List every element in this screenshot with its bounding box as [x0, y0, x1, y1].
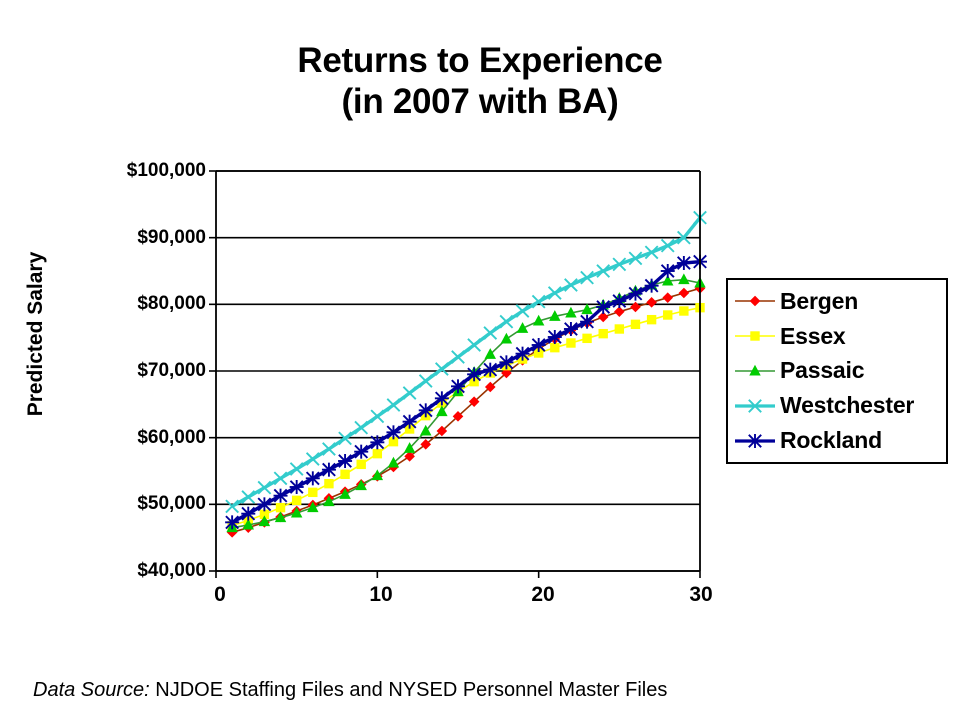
data-point-marker: [386, 425, 400, 439]
data-point-marker: [435, 391, 449, 405]
data-point-marker: [403, 415, 417, 429]
legend-swatch-icon: [734, 290, 776, 312]
data-point-marker: [241, 507, 255, 521]
data-point-marker: [468, 339, 480, 351]
data-point-marker: [403, 387, 415, 399]
data-point-marker: [419, 403, 433, 417]
data-point-marker: [680, 307, 688, 315]
data-point-marker: [436, 363, 448, 375]
data-source-label: Data Source:: [33, 679, 150, 701]
data-point-marker: [565, 279, 577, 291]
data-point-marker: [661, 264, 675, 278]
legend: BergenEssexPassaicWestchesterRockland: [726, 278, 948, 464]
data-point-marker: [338, 454, 352, 468]
data-point-marker: [664, 311, 672, 319]
data-point-marker: [518, 323, 528, 332]
legend-item-rockland[interactable]: Rockland: [734, 425, 946, 457]
data-point-marker: [647, 315, 655, 323]
data-point-marker: [322, 463, 336, 477]
data-point-marker: [290, 480, 304, 494]
data-point-marker: [679, 288, 688, 297]
data-point-marker: [647, 298, 656, 307]
legend-label: Passaic: [780, 357, 864, 384]
gridlines: [216, 171, 700, 571]
data-point-marker: [748, 434, 762, 448]
data-point-marker: [341, 470, 349, 478]
data-point-marker: [628, 287, 642, 301]
data-point-marker: [484, 327, 496, 339]
series-essex: [228, 303, 704, 529]
data-point-marker: [371, 410, 383, 422]
data-point-marker: [307, 453, 319, 465]
legend-swatch-icon: [734, 395, 776, 417]
data-point-marker: [357, 460, 365, 468]
legend-item-bergen[interactable]: Bergen: [734, 285, 946, 317]
data-point-marker: [596, 300, 610, 314]
data-point-marker: [751, 332, 759, 340]
legend-swatch-icon: [734, 430, 776, 452]
data-point-marker: [274, 489, 288, 503]
data-point-marker: [631, 320, 639, 328]
data-point-marker: [306, 471, 320, 485]
series-line: [232, 288, 700, 532]
data-point-marker: [516, 305, 528, 317]
series-rockland: [225, 255, 707, 530]
data-point-marker: [276, 503, 284, 511]
data-point-marker: [615, 307, 624, 316]
data-point-marker: [750, 297, 759, 306]
data-point-marker: [615, 325, 623, 333]
data-point-marker: [502, 334, 512, 343]
data-point-marker: [580, 315, 594, 329]
legend-swatch-icon: [734, 360, 776, 382]
data-series-layer: [225, 211, 707, 536]
data-point-marker: [483, 363, 497, 377]
data-point-marker: [679, 274, 689, 283]
data-point-marker: [452, 351, 464, 363]
data-point-marker: [258, 481, 270, 493]
data-point-marker: [645, 279, 659, 293]
series-passaic: [227, 274, 705, 531]
chart-figure: Returns to Experience (in 2007 with BA) …: [0, 0, 960, 720]
data-point-marker: [323, 443, 335, 455]
data-point-marker: [355, 421, 367, 433]
data-point-marker: [290, 463, 302, 475]
data-point-marker: [551, 343, 559, 351]
data-source-note: Data Source: NJDOE Staffing Files and NY…: [33, 679, 667, 702]
legend-item-essex[interactable]: Essex: [734, 320, 946, 352]
data-point-marker: [467, 367, 481, 381]
data-point-marker: [548, 330, 562, 344]
data-point-marker: [599, 329, 607, 337]
data-point-marker: [567, 339, 575, 347]
data-point-marker: [663, 293, 672, 302]
series-line: [232, 280, 700, 528]
data-point-marker: [451, 379, 465, 393]
series-westchester: [226, 211, 706, 512]
data-point-marker: [373, 449, 381, 457]
data-point-marker: [499, 355, 513, 369]
data-point-marker: [309, 488, 317, 496]
data-point-marker: [549, 287, 561, 299]
data-point-marker: [325, 479, 333, 487]
legend-swatch-icon: [734, 325, 776, 347]
data-point-marker: [564, 322, 578, 336]
legend-item-westchester[interactable]: Westchester: [734, 390, 946, 422]
data-point-marker: [257, 497, 271, 511]
data-point-marker: [583, 334, 591, 342]
data-source-text: NJDOE Staffing Files and NYSED Personnel…: [150, 679, 668, 701]
legend-label: Essex: [780, 323, 846, 350]
legend-label: Rockland: [780, 427, 882, 454]
data-point-marker: [292, 496, 300, 504]
legend-item-passaic[interactable]: Passaic: [734, 355, 946, 387]
legend-label: Bergen: [780, 288, 858, 315]
data-point-marker: [677, 256, 691, 270]
data-point-marker: [612, 294, 626, 308]
data-point-marker: [420, 375, 432, 387]
data-point-marker: [532, 295, 544, 307]
series-line: [232, 262, 700, 523]
data-point-marker: [387, 399, 399, 411]
data-point-marker: [500, 315, 512, 327]
legend-label: Westchester: [780, 392, 914, 419]
data-point-marker: [354, 445, 368, 459]
data-point-marker: [274, 472, 286, 484]
data-point-marker: [226, 500, 238, 512]
data-point-marker: [532, 338, 546, 352]
data-point-marker: [370, 435, 384, 449]
data-point-marker: [242, 491, 254, 503]
data-point-marker: [516, 347, 530, 361]
data-point-marker: [225, 515, 239, 529]
